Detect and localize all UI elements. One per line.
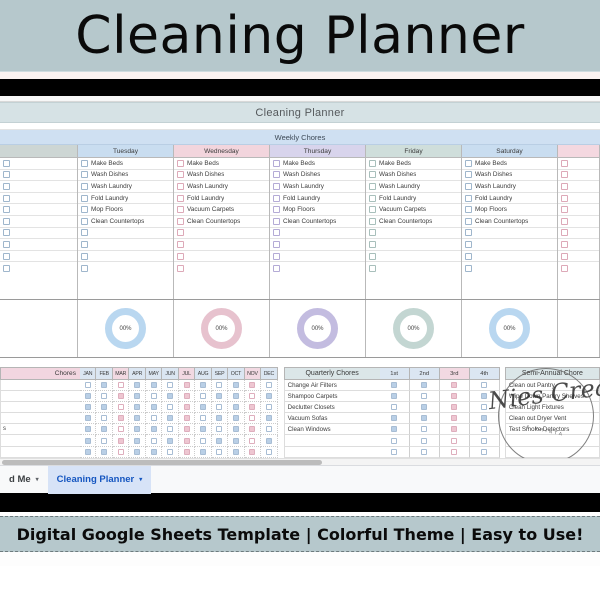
weekly-task-row[interactable]: Wash Dishes: [174, 170, 269, 182]
monthly-checkbox[interactable]: [249, 404, 255, 410]
monthly-checkbox[interactable]: [266, 393, 272, 399]
monthly-checkbox[interactable]: [184, 438, 190, 444]
weekly-task-row[interactable]: Clean Countertops: [78, 216, 173, 228]
task-checkbox[interactable]: [465, 171, 472, 178]
monthly-check-cell[interactable]: [129, 402, 145, 413]
weekly-task-row[interactable]: Make Beds: [366, 158, 461, 170]
table-row[interactable]: s: [0, 424, 278, 435]
quarterly-check-cell[interactable]: [470, 391, 500, 402]
task-checkbox[interactable]: [81, 183, 88, 190]
task-checkbox[interactable]: [81, 206, 88, 213]
monthly-check-cell[interactable]: [80, 391, 96, 402]
monthly-checkbox[interactable]: [249, 415, 255, 421]
monthly-check-cell[interactable]: [261, 413, 277, 424]
quarterly-check-cell[interactable]: [410, 435, 440, 446]
monthly-check-cell[interactable]: [195, 447, 211, 458]
task-checkbox[interactable]: [273, 241, 280, 248]
task-checkbox[interactable]: [273, 160, 280, 167]
monthly-check-cell[interactable]: [228, 380, 244, 391]
task-checkbox[interactable]: [561, 218, 568, 225]
weekly-task-row[interactable]: [366, 228, 461, 240]
quarterly-checkbox[interactable]: [391, 382, 397, 388]
monthly-check-cell[interactable]: [195, 413, 211, 424]
quarterly-check-cell[interactable]: [380, 402, 410, 413]
monthly-check-cell[interactable]: [162, 435, 178, 446]
monthly-check-cell[interactable]: [261, 447, 277, 458]
quarterly-checkbox[interactable]: [451, 426, 457, 432]
monthly-check-cell[interactable]: [129, 380, 145, 391]
quarterly-check-cell[interactable]: [440, 391, 470, 402]
quarterly-check-cell[interactable]: [380, 391, 410, 402]
weekly-task-row[interactable]: Vacuum Carpets: [174, 204, 269, 216]
task-checkbox[interactable]: [81, 229, 88, 236]
monthly-checkbox[interactable]: [184, 415, 190, 421]
quarterly-checkbox[interactable]: [451, 415, 457, 421]
weekly-task-row[interactable]: Wash Dishes: [270, 170, 365, 182]
weekly-column-partial[interactable]: [558, 145, 600, 299]
monthly-checkbox[interactable]: [216, 426, 222, 432]
weekly-task-row[interactable]: Vacuum Carpets: [366, 204, 461, 216]
weekly-task-row[interactable]: [462, 262, 557, 274]
monthly-checkbox[interactable]: [134, 449, 140, 455]
task-checkbox[interactable]: [3, 160, 10, 167]
monthly-check-cell[interactable]: [261, 435, 277, 446]
quarterly-checkbox[interactable]: [421, 393, 427, 399]
task-checkbox[interactable]: [561, 241, 568, 248]
task-checkbox[interactable]: [3, 206, 10, 213]
weekly-task-row[interactable]: Fold Laundry: [174, 193, 269, 205]
weekly-task-row[interactable]: Clean Countertops: [270, 216, 365, 228]
weekly-task-row[interactable]: [174, 262, 269, 274]
monthly-checkbox[interactable]: [249, 382, 255, 388]
task-checkbox[interactable]: [81, 253, 88, 260]
monthly-check-cell[interactable]: [80, 424, 96, 435]
monthly-checkbox[interactable]: [184, 393, 190, 399]
weekly-task-row[interactable]: [558, 228, 599, 240]
quarterly-checkbox[interactable]: [421, 415, 427, 421]
list-item[interactable]: [505, 435, 600, 446]
list-item[interactable]: Clean out Dryer Vent: [505, 413, 600, 424]
task-checkbox[interactable]: [369, 253, 376, 260]
monthly-checkbox[interactable]: [101, 393, 107, 399]
weekly-task-row[interactable]: Wash Laundry: [78, 181, 173, 193]
monthly-check-cell[interactable]: [195, 391, 211, 402]
task-checkbox[interactable]: [177, 241, 184, 248]
monthly-checkbox[interactable]: [85, 449, 91, 455]
monthly-check-cell[interactable]: [261, 402, 277, 413]
monthly-checkbox[interactable]: [134, 393, 140, 399]
quarterly-checkbox[interactable]: [421, 438, 427, 444]
monthly-checkbox[interactable]: [184, 382, 190, 388]
weekly-task-row[interactable]: Wash Laundry: [366, 181, 461, 193]
monthly-checkbox[interactable]: [167, 438, 173, 444]
task-checkbox[interactable]: [465, 195, 472, 202]
monthly-check-cell[interactable]: [129, 413, 145, 424]
monthly-check-cell[interactable]: [212, 413, 228, 424]
monthly-checkbox[interactable]: [216, 415, 222, 421]
monthly-check-cell[interactable]: [80, 435, 96, 446]
quarterly-checkbox[interactable]: [481, 393, 487, 399]
monthly-check-cell[interactable]: [162, 380, 178, 391]
task-checkbox[interactable]: [3, 241, 10, 248]
monthly-check-cell[interactable]: [80, 380, 96, 391]
list-item[interactable]: Wipe Down Pantry Shelves: [505, 391, 600, 402]
weekly-task-row[interactable]: Clean Countertops: [366, 216, 461, 228]
quarterly-checkbox[interactable]: [421, 449, 427, 455]
task-checkbox[interactable]: [273, 206, 280, 213]
weekly-task-row[interactable]: [270, 228, 365, 240]
monthly-check-cell[interactable]: [261, 380, 277, 391]
monthly-checkbox[interactable]: [134, 415, 140, 421]
weekly-task-row[interactable]: [558, 158, 599, 170]
weekly-task-row[interactable]: [0, 170, 77, 182]
monthly-check-cell[interactable]: [195, 424, 211, 435]
task-checkbox[interactable]: [369, 218, 376, 225]
task-checkbox[interactable]: [465, 160, 472, 167]
task-checkbox[interactable]: [561, 195, 568, 202]
monthly-check-cell[interactable]: [261, 424, 277, 435]
weekly-task-row[interactable]: [270, 262, 365, 274]
monthly-check-cell[interactable]: [113, 391, 129, 402]
list-item[interactable]: Test Smoke Detectors: [505, 424, 600, 435]
monthly-checkbox[interactable]: [101, 426, 107, 432]
quarterly-chores-table[interactable]: Quarterly Chores1st2nd3rd4th Change Air …: [284, 367, 500, 458]
monthly-checkbox[interactable]: [151, 404, 157, 410]
task-checkbox[interactable]: [81, 218, 88, 225]
monthly-checkbox[interactable]: [134, 404, 140, 410]
weekly-task-row[interactable]: [366, 239, 461, 251]
quarterly-check-cell[interactable]: [470, 380, 500, 391]
weekly-task-row[interactable]: Make Beds: [174, 158, 269, 170]
task-checkbox[interactable]: [81, 160, 88, 167]
weekly-task-row[interactable]: Fold Laundry: [78, 193, 173, 205]
sheet-tab-cleaning-planner[interactable]: Cleaning Planner▾: [48, 466, 152, 494]
task-checkbox[interactable]: [369, 229, 376, 236]
task-checkbox[interactable]: [561, 229, 568, 236]
monthly-check-cell[interactable]: [245, 424, 261, 435]
monthly-check-cell[interactable]: [96, 402, 112, 413]
monthly-check-cell[interactable]: [245, 447, 261, 458]
weekly-task-row[interactable]: [0, 251, 77, 263]
monthly-check-cell[interactable]: [179, 380, 195, 391]
weekly-task-row[interactable]: [462, 251, 557, 263]
weekly-task-row[interactable]: [0, 158, 77, 170]
weekly-column-partial[interactable]: [0, 145, 78, 299]
weekly-task-row[interactable]: [0, 228, 77, 240]
quarterly-check-cell[interactable]: [470, 447, 500, 458]
table-row[interactable]: Change Air Filters: [284, 380, 500, 391]
monthly-checkbox[interactable]: [216, 449, 222, 455]
weekly-task-row[interactable]: Wash Dishes: [462, 170, 557, 182]
quarterly-checkbox[interactable]: [391, 393, 397, 399]
monthly-checkbox[interactable]: [184, 449, 190, 455]
monthly-check-cell[interactable]: [162, 447, 178, 458]
monthly-check-cell[interactable]: [212, 380, 228, 391]
monthly-checkbox[interactable]: [101, 404, 107, 410]
weekly-task-row[interactable]: [0, 216, 77, 228]
task-checkbox[interactable]: [3, 265, 10, 272]
task-checkbox[interactable]: [273, 171, 280, 178]
weekly-task-row[interactable]: [366, 262, 461, 274]
monthly-checkbox[interactable]: [151, 426, 157, 432]
sheet-tab-d-me[interactable]: d Me▾: [0, 466, 48, 494]
monthly-checkbox[interactable]: [249, 438, 255, 444]
weekly-task-row[interactable]: Make Beds: [462, 158, 557, 170]
weekly-task-row[interactable]: [0, 262, 77, 274]
weekly-column-friday[interactable]: FridayMake BedsWash DishesWash LaundryFo…: [366, 145, 462, 299]
quarterly-check-cell[interactable]: [440, 413, 470, 424]
monthly-check-cell[interactable]: [228, 402, 244, 413]
monthly-checkbox[interactable]: [200, 449, 206, 455]
task-checkbox[interactable]: [561, 206, 568, 213]
task-checkbox[interactable]: [273, 265, 280, 272]
weekly-task-row[interactable]: [558, 239, 599, 251]
list-item[interactable]: [505, 447, 600, 458]
quarterly-check-cell[interactable]: [440, 435, 470, 446]
quarterly-check-cell[interactable]: [470, 402, 500, 413]
quarterly-check-cell[interactable]: [440, 402, 470, 413]
weekly-task-row[interactable]: [558, 216, 599, 228]
monthly-check-cell[interactable]: [212, 424, 228, 435]
horizontal-scrollbar[interactable]: [0, 458, 600, 465]
quarterly-body[interactable]: Change Air FiltersShampoo CarpetsDeclutt…: [284, 380, 500, 458]
monthly-check-cell[interactable]: [113, 402, 129, 413]
weekly-task-row[interactable]: [174, 239, 269, 251]
monthly-checkbox[interactable]: [118, 382, 124, 388]
monthly-check-cell[interactable]: [113, 424, 129, 435]
quarterly-check-cell[interactable]: [410, 447, 440, 458]
quarterly-checkbox[interactable]: [451, 404, 457, 410]
monthly-check-cell[interactable]: [96, 380, 112, 391]
task-checkbox[interactable]: [369, 265, 376, 272]
table-row[interactable]: [0, 413, 278, 424]
table-row[interactable]: [0, 447, 278, 458]
monthly-checkbox[interactable]: [101, 415, 107, 421]
monthly-check-cell[interactable]: [113, 447, 129, 458]
monthly-checkbox[interactable]: [85, 426, 91, 432]
quarterly-check-cell[interactable]: [380, 413, 410, 424]
quarterly-checkbox[interactable]: [451, 382, 457, 388]
quarterly-checkbox[interactable]: [451, 449, 457, 455]
monthly-checkbox[interactable]: [266, 415, 272, 421]
monthly-checkbox[interactable]: [233, 393, 239, 399]
monthly-check-cell[interactable]: [179, 435, 195, 446]
task-checkbox[interactable]: [465, 206, 472, 213]
quarterly-checkbox[interactable]: [421, 426, 427, 432]
monthly-checkbox[interactable]: [118, 438, 124, 444]
monthly-checkbox[interactable]: [85, 415, 91, 421]
monthly-checkbox[interactable]: [167, 393, 173, 399]
task-checkbox[interactable]: [81, 195, 88, 202]
monthly-check-cell[interactable]: [179, 391, 195, 402]
weekly-task-row[interactable]: [270, 239, 365, 251]
weekly-column-thursday[interactable]: ThursdayMake BedsWash DishesWash Laundry…: [270, 145, 366, 299]
monthly-checkbox[interactable]: [200, 404, 206, 410]
table-row[interactable]: [0, 435, 278, 446]
weekly-chores-grid[interactable]: TuesdayMake BedsWash DishesWash LaundryF…: [0, 145, 600, 300]
quarterly-checkbox[interactable]: [481, 426, 487, 432]
monthly-checkbox[interactable]: [151, 415, 157, 421]
monthly-checkbox[interactable]: [85, 382, 91, 388]
task-checkbox[interactable]: [561, 171, 568, 178]
task-checkbox[interactable]: [369, 195, 376, 202]
monthly-checkbox[interactable]: [266, 404, 272, 410]
weekly-task-row[interactable]: [174, 251, 269, 263]
weekly-task-row[interactable]: [78, 251, 173, 263]
weekly-column-wednesday[interactable]: WednesdayMake BedsWash DishesWash Laundr…: [174, 145, 270, 299]
task-checkbox[interactable]: [177, 195, 184, 202]
task-checkbox[interactable]: [369, 206, 376, 213]
task-checkbox[interactable]: [561, 160, 568, 167]
monthly-check-cell[interactable]: [228, 435, 244, 446]
weekly-task-row[interactable]: Wash Laundry: [270, 181, 365, 193]
weekly-task-row[interactable]: Mop Floors: [270, 204, 365, 216]
quarterly-check-cell[interactable]: [380, 435, 410, 446]
task-checkbox[interactable]: [177, 229, 184, 236]
monthly-check-cell[interactable]: [80, 447, 96, 458]
monthly-checkbox[interactable]: [101, 382, 107, 388]
weekly-task-row[interactable]: [558, 251, 599, 263]
monthly-checkbox[interactable]: [233, 404, 239, 410]
table-row[interactable]: [0, 380, 278, 391]
monthly-checkbox[interactable]: [249, 449, 255, 455]
quarterly-check-cell[interactable]: [380, 380, 410, 391]
monthly-check-cell[interactable]: [80, 402, 96, 413]
table-row[interactable]: Declutter Closets: [284, 402, 500, 413]
monthly-check-cell[interactable]: [129, 391, 145, 402]
lower-tables[interactable]: ChoresJANFEBMARAPRMAYJUNJULAUGSEPOCTNOVD…: [0, 367, 600, 458]
table-row[interactable]: [0, 402, 278, 413]
monthly-checkbox[interactable]: [151, 382, 157, 388]
weekly-task-row[interactable]: [0, 239, 77, 251]
monthly-checkbox[interactable]: [233, 438, 239, 444]
table-row[interactable]: Clean Windows: [284, 424, 500, 435]
monthly-checkbox[interactable]: [151, 449, 157, 455]
monthly-checkbox[interactable]: [266, 449, 272, 455]
weekly-task-row[interactable]: [558, 193, 599, 205]
task-checkbox[interactable]: [177, 253, 184, 260]
table-row[interactable]: [0, 391, 278, 402]
task-checkbox[interactable]: [3, 171, 10, 178]
task-checkbox[interactable]: [3, 253, 10, 260]
monthly-checkbox[interactable]: [167, 382, 173, 388]
monthly-chores-table[interactable]: ChoresJANFEBMARAPRMAYJUNJULAUGSEPOCTNOVD…: [0, 367, 279, 458]
monthly-checkbox[interactable]: [216, 404, 222, 410]
monthly-check-cell[interactable]: [195, 402, 211, 413]
list-item[interactable]: Clean out Pantry: [505, 380, 600, 391]
monthly-check-cell[interactable]: [129, 447, 145, 458]
weekly-task-row[interactable]: [78, 239, 173, 251]
monthly-check-cell[interactable]: [146, 380, 162, 391]
weekly-task-row[interactable]: [462, 239, 557, 251]
task-checkbox[interactable]: [177, 265, 184, 272]
monthly-check-cell[interactable]: [195, 380, 211, 391]
monthly-check-cell[interactable]: [96, 391, 112, 402]
task-checkbox[interactable]: [465, 265, 472, 272]
task-checkbox[interactable]: [3, 229, 10, 236]
monthly-checkbox[interactable]: [101, 438, 107, 444]
weekly-task-row[interactable]: [366, 251, 461, 263]
weekly-task-row[interactable]: Fold Laundry: [270, 193, 365, 205]
quarterly-checkbox[interactable]: [481, 415, 487, 421]
weekly-task-row[interactable]: [558, 204, 599, 216]
monthly-check-cell[interactable]: [228, 413, 244, 424]
task-checkbox[interactable]: [369, 171, 376, 178]
monthly-checkbox[interactable]: [151, 393, 157, 399]
monthly-checkbox[interactable]: [216, 382, 222, 388]
monthly-checkbox[interactable]: [266, 438, 272, 444]
quarterly-check-cell[interactable]: [410, 402, 440, 413]
monthly-checkbox[interactable]: [233, 382, 239, 388]
monthly-check-cell[interactable]: [129, 435, 145, 446]
task-checkbox[interactable]: [465, 241, 472, 248]
monthly-checkbox[interactable]: [200, 438, 206, 444]
monthly-checkbox[interactable]: [233, 426, 239, 432]
monthly-check-cell[interactable]: [113, 435, 129, 446]
monthly-check-cell[interactable]: [129, 424, 145, 435]
weekly-task-row[interactable]: Mop Floors: [462, 204, 557, 216]
monthly-check-cell[interactable]: [96, 413, 112, 424]
weekly-task-row[interactable]: Make Beds: [270, 158, 365, 170]
spreadsheet-area[interactable]: Cleaning Planner Weekly Chores TuesdayMa…: [0, 101, 600, 458]
weekly-task-row[interactable]: Fold Laundry: [462, 193, 557, 205]
monthly-checkbox[interactable]: [249, 393, 255, 399]
weekly-task-row[interactable]: Mop Floors: [78, 204, 173, 216]
monthly-check-cell[interactable]: [228, 447, 244, 458]
table-row[interactable]: Vacuum Sofas: [284, 413, 500, 424]
monthly-check-cell[interactable]: [146, 447, 162, 458]
weekly-task-row[interactable]: [558, 170, 599, 182]
quarterly-checkbox[interactable]: [481, 438, 487, 444]
weekly-task-row[interactable]: [0, 204, 77, 216]
monthly-checkbox[interactable]: [134, 382, 140, 388]
monthly-check-cell[interactable]: [212, 435, 228, 446]
quarterly-check-cell[interactable]: [440, 447, 470, 458]
monthly-checkbox[interactable]: [216, 393, 222, 399]
weekly-task-row[interactable]: [558, 262, 599, 274]
monthly-check-cell[interactable]: [146, 424, 162, 435]
monthly-checkbox[interactable]: [85, 438, 91, 444]
monthly-check-cell[interactable]: [162, 391, 178, 402]
quarterly-check-cell[interactable]: [380, 424, 410, 435]
monthly-checkbox[interactable]: [101, 449, 107, 455]
monthly-checkbox[interactable]: [118, 415, 124, 421]
task-checkbox[interactable]: [273, 253, 280, 260]
monthly-check-cell[interactable]: [80, 413, 96, 424]
monthly-checkbox[interactable]: [200, 382, 206, 388]
task-checkbox[interactable]: [177, 160, 184, 167]
monthly-checkbox[interactable]: [134, 438, 140, 444]
task-checkbox[interactable]: [273, 195, 280, 202]
monthly-check-cell[interactable]: [146, 391, 162, 402]
monthly-check-cell[interactable]: [245, 380, 261, 391]
semi-annual-chores-table[interactable]: Semi-Annual Chore Clean out PantryWipe D…: [505, 367, 600, 458]
monthly-check-cell[interactable]: [245, 391, 261, 402]
monthly-checkbox[interactable]: [85, 393, 91, 399]
monthly-check-cell[interactable]: [179, 402, 195, 413]
monthly-check-cell[interactable]: [261, 391, 277, 402]
monthly-checkbox[interactable]: [266, 382, 272, 388]
monthly-check-cell[interactable]: [228, 391, 244, 402]
weekly-task-row[interactable]: [462, 228, 557, 240]
quarterly-checkbox[interactable]: [481, 382, 487, 388]
quarterly-check-cell[interactable]: [410, 391, 440, 402]
task-checkbox[interactable]: [3, 183, 10, 190]
quarterly-checkbox[interactable]: [451, 438, 457, 444]
list-item[interactable]: Clean Light Fixtures: [505, 402, 600, 413]
task-checkbox[interactable]: [369, 241, 376, 248]
monthly-checkbox[interactable]: [249, 426, 255, 432]
